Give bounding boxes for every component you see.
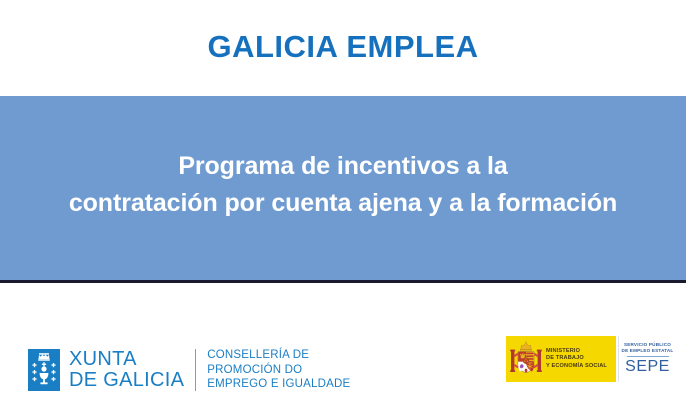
sepe-rule: [627, 356, 669, 357]
xunta-wordmark-line-2: DE GALICIA: [69, 370, 184, 391]
conselleria-line-2: PROMOCIÓN DO: [207, 363, 350, 378]
sepe-acronym: SEPE: [625, 358, 670, 376]
ministry-line-1: MINISTERIO: [546, 348, 607, 355]
xunta-wordmark: XUNTA DE GALICIA: [69, 349, 184, 391]
xunta-coat-of-arms-icon: [28, 349, 60, 391]
conselleria-text: CONSELLERÍA DE PROMOCIÓN DO EMPREGO E IG…: [207, 348, 350, 392]
sepe-logo: SERVICIO PÚBLICO DE EMPLEO ESTATAL SEPE: [618, 336, 676, 382]
conselleria-line-3: EMPREGO E IGUALDADE: [207, 377, 350, 392]
sepe-caption: SERVICIO PÚBLICO DE EMPLEO ESTATAL: [622, 342, 674, 354]
footer-logos: XUNTA DE GALICIA CONSELLERÍA DE PROMOCIÓ…: [0, 286, 686, 410]
ministry-logo: MINISTERIO DE TRABAJO Y ECONOMÍA SOCIAL: [506, 336, 616, 382]
sepe-caption-line-2: DE EMPLEO ESTATAL: [622, 348, 674, 354]
ministry-line-2: DE TRABAJO: [546, 355, 607, 362]
logo-divider: [195, 349, 196, 391]
banner-text-block: Programa de incentivos a la contratación…: [0, 148, 686, 222]
xunta-wordmark-line-1: XUNTA: [69, 349, 184, 370]
spain-coat-of-arms-icon: [509, 339, 543, 379]
xunta-de-galicia-logo: XUNTA DE GALICIA CONSELLERÍA DE PROMOCIÓ…: [28, 348, 350, 392]
ministry-line-3: Y ECONOMÍA SOCIAL: [546, 363, 607, 370]
ministry-name: MINISTERIO DE TRABAJO Y ECONOMÍA SOCIAL: [546, 348, 607, 370]
header-area: GALICIA EMPLEA: [0, 0, 686, 96]
banner-line-2: contratación por cuenta ajena y a la for…: [0, 185, 686, 222]
conselleria-line-1: CONSELLERÍA DE: [207, 348, 350, 363]
banner-line-1: Programa de incentivos a la: [0, 148, 686, 185]
page-title: GALICIA EMPLEA: [0, 29, 686, 65]
program-banner: Programa de incentivos a la contratación…: [0, 96, 686, 283]
